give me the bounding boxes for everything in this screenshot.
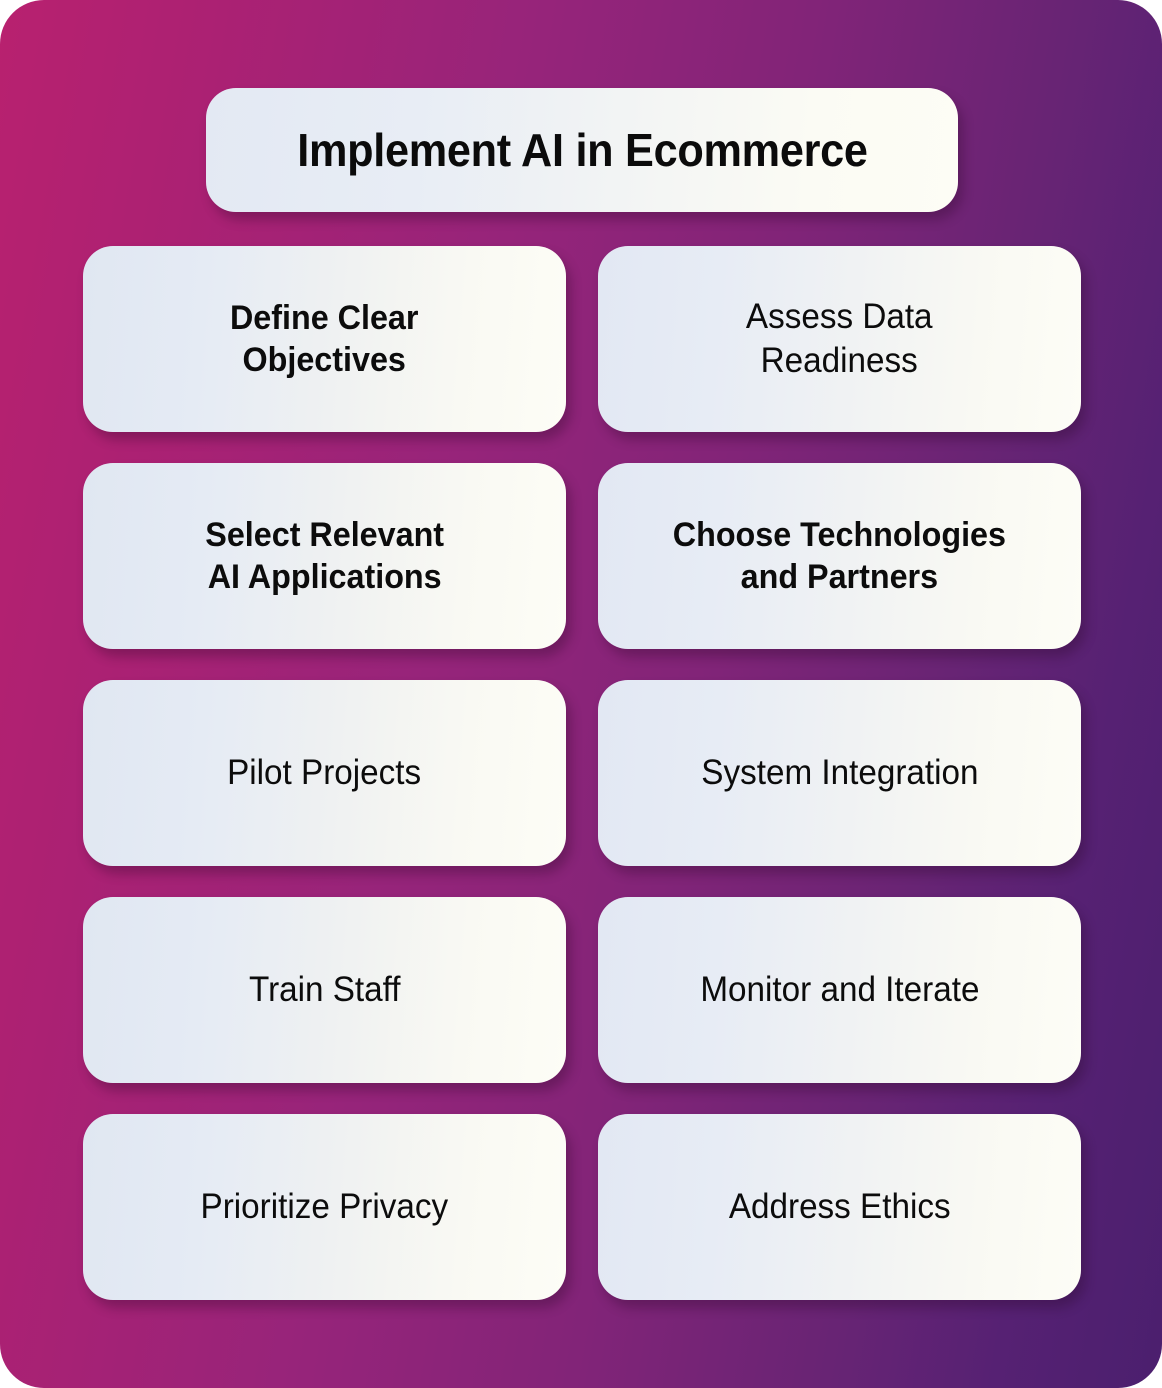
title-card: Implement AI in Ecommerce (206, 88, 958, 212)
step-card-label: Monitor and Iterate (700, 969, 979, 1012)
step-card-label: Assess Data Readiness (746, 295, 933, 383)
step-card-label: Train Staff (249, 969, 401, 1012)
step-card-monitor-and-iterate[interactable]: Monitor and Iterate (598, 897, 1081, 1083)
gradient-panel: Implement AI in Ecommerce Define Clear O… (0, 0, 1162, 1388)
step-card-label: Pilot Projects (227, 752, 421, 795)
step-card-prioritize-privacy[interactable]: Prioritize Privacy (83, 1114, 566, 1300)
step-card-system-integration[interactable]: System Integration (598, 680, 1081, 866)
step-card-label: Prioritize Privacy (201, 1186, 449, 1229)
step-card-label: Select Relevant AI Applications (205, 514, 444, 599)
page-title: Implement AI in Ecommerce (280, 125, 884, 176)
step-card-select-relevant-ai-applications[interactable]: Select Relevant AI Applications (83, 463, 566, 649)
step-card-choose-technologies-and-partners[interactable]: Choose Technologies and Partners (598, 463, 1081, 649)
step-card-label: Choose Technologies and Partners (673, 514, 1006, 599)
step-card-address-ethics[interactable]: Address Ethics (598, 1114, 1081, 1300)
step-card-train-staff[interactable]: Train Staff (83, 897, 566, 1083)
steps-grid: Define Clear Objectives Assess Data Read… (83, 246, 1081, 1300)
step-card-define-clear-objectives[interactable]: Define Clear Objectives (83, 246, 566, 432)
step-card-label: System Integration (701, 752, 978, 795)
step-card-label: Address Ethics (729, 1186, 951, 1229)
step-card-assess-data-readiness[interactable]: Assess Data Readiness (598, 246, 1081, 432)
step-card-label: Define Clear Objectives (230, 297, 418, 382)
step-card-pilot-projects[interactable]: Pilot Projects (83, 680, 566, 866)
